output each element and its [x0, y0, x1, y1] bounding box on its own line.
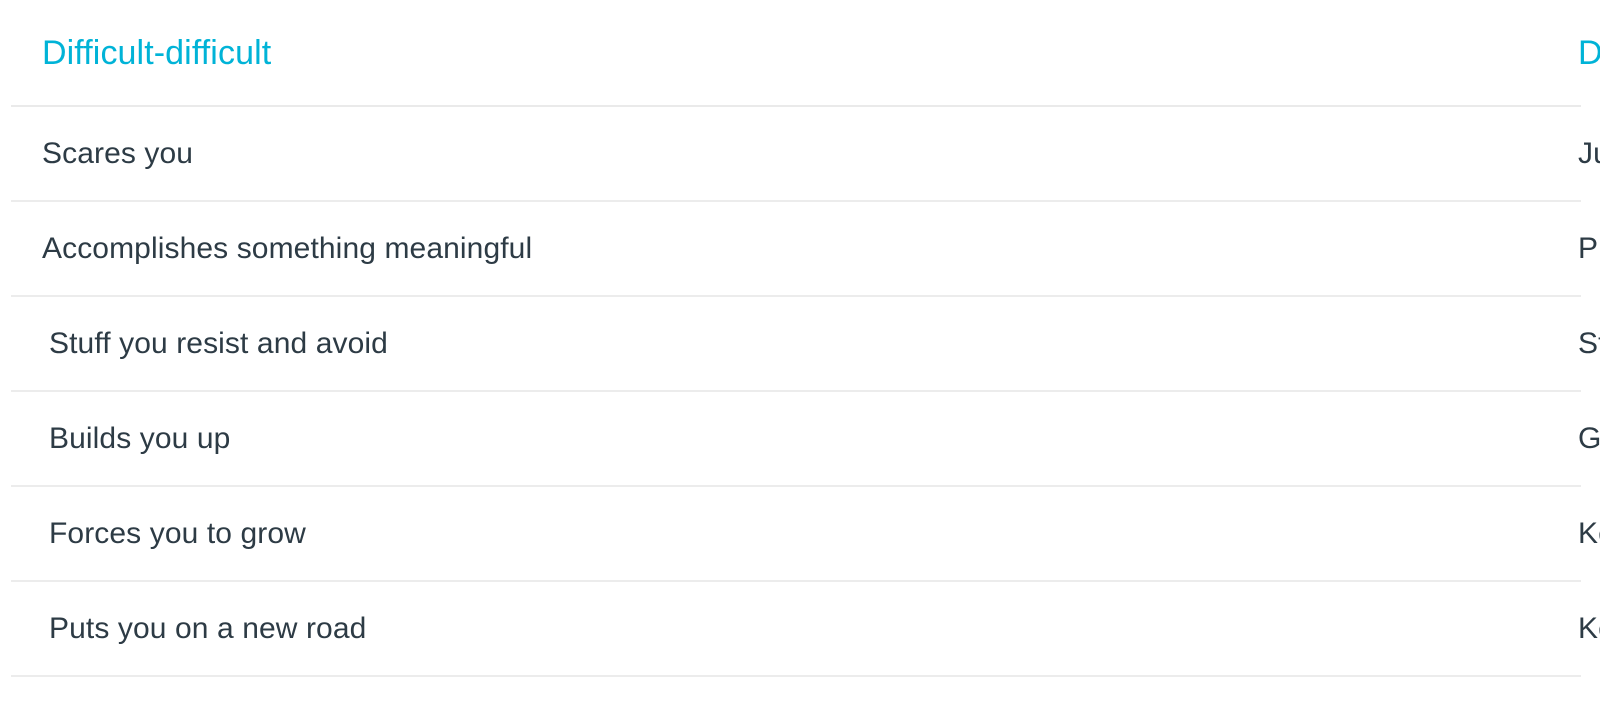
comparison-table: Difficult-difficult Difficult-easy Scare… [11, 0, 1581, 677]
cell-difficult-difficult: Stuff you resist and avoid [11, 296, 779, 391]
cell-difficult-difficult: Builds you up [11, 391, 779, 486]
cell-difficult-easy: Just annoys you [779, 106, 1581, 201]
cell-text: Keeps you in the same worn-out rut [779, 610, 1581, 648]
table-row: Builds you up Grinds you down [11, 391, 1581, 486]
table-row: Puts you on a new road Keeps you in the … [11, 581, 1581, 676]
cell-text: Accomplishes something meaningful [11, 230, 779, 268]
cell-text: Stuff you do because it’s there [779, 325, 1581, 363]
table-body: Scares you Just annoys you Accomplishes … [11, 106, 1581, 676]
cell-difficult-difficult: Accomplishes something meaningful [11, 201, 779, 296]
cell-text: Scares you [11, 135, 779, 173]
cell-difficult-difficult: Puts you on a new road [11, 581, 779, 676]
table-header: Difficult-difficult Difficult-easy [11, 0, 1581, 106]
cell-text: Forces you to grow [11, 515, 779, 553]
bottom-spacer [0, 684, 1600, 724]
column-header-label: Difficult-difficult [11, 33, 779, 73]
cell-text: Stuff you resist and avoid [11, 325, 779, 363]
table-row: Stuff you resist and avoid Stuff you do … [11, 296, 1581, 391]
table-row: Accomplishes something meaningful Punche… [11, 201, 1581, 296]
column-header-label: Difficult-easy [779, 33, 1581, 73]
cell-difficult-difficult: Forces you to grow [11, 486, 779, 581]
table-row: Forces you to grow Keeps you (unhappily)… [11, 486, 1581, 581]
cell-text: Keeps you (unhappily) the same [779, 515, 1581, 553]
table-row: Scares you Just annoys you [11, 106, 1581, 201]
comparison-table-page: Difficult-difficult Difficult-easy Scare… [0, 0, 1600, 724]
cell-text: Builds you up [11, 420, 779, 458]
table-header-row: Difficult-difficult Difficult-easy [11, 0, 1581, 106]
cell-text: Grinds you down [779, 420, 1581, 458]
cell-text: Just annoys you [779, 135, 1581, 173]
cell-difficult-easy: Keeps you (unhappily) the same [779, 486, 1581, 581]
column-header-difficult-difficult: Difficult-difficult [11, 0, 779, 106]
column-header-difficult-easy: Difficult-easy [779, 0, 1581, 106]
cell-difficult-easy: Grinds you down [779, 391, 1581, 486]
cell-difficult-easy: Punches its card [779, 201, 1581, 296]
cell-text: Punches its card [779, 230, 1581, 268]
cell-difficult-difficult: Scares you [11, 106, 779, 201]
cell-difficult-easy: Keeps you in the same worn-out rut [779, 581, 1581, 676]
cell-text: Puts you on a new road [11, 610, 779, 648]
cell-difficult-easy: Stuff you do because it’s there [779, 296, 1581, 391]
